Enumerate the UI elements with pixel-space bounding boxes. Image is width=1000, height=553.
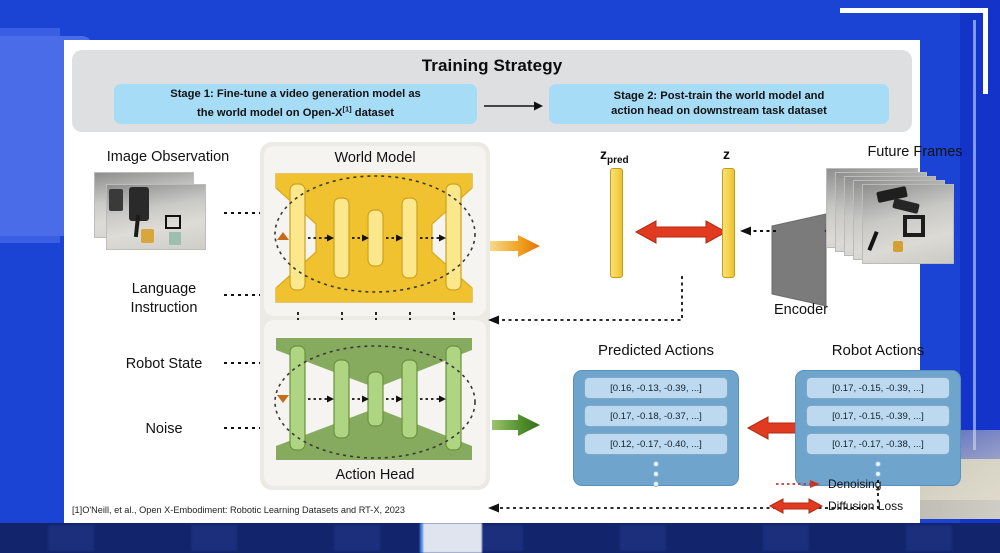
predicted-action-row[interactable]: [0.17, -0.18, -0.37, ...] (584, 405, 728, 427)
slide-canvas: Training Strategy Stage 1: Fine-tune a v… (64, 40, 920, 525)
arrow-world-model-to-zpred-icon (490, 233, 540, 259)
stage-1-line-1: Stage 1: Fine-tune a video generation mo… (170, 88, 421, 100)
feedback-path-z-to-world-model (484, 276, 694, 328)
robot-action-row[interactable]: [0.17, -0.17, -0.38, ...] (806, 433, 950, 455)
stage-2-line-2: action head on downstream task dataset (611, 105, 827, 117)
z-pred-bar (610, 168, 623, 278)
video-strip-item[interactable] (143, 523, 286, 553)
robot-action-row[interactable]: [0.17, -0.15, -0.39, ...] (806, 377, 950, 399)
model-container: World Model (260, 142, 490, 490)
world-model-title: World Model (264, 150, 486, 166)
robot-actions-title: Robot Actions (778, 342, 978, 359)
action-head-hourglass-icon (272, 332, 478, 466)
predicted-actions-title: Predicted Actions (556, 342, 756, 359)
robot-actions-box[interactable]: [0.17, -0.15, -0.39, ...] [0.17, -0.15, … (795, 370, 961, 486)
encoder-label: Encoder (752, 302, 850, 318)
video-strip-active-item[interactable] (420, 523, 482, 553)
encoder-shape-icon (770, 212, 828, 308)
future-frames-title: Future Frames (830, 144, 1000, 160)
legend-denoising-label: Denoising (828, 477, 881, 491)
diffusion-loss-legend-arrow-icon (770, 497, 822, 515)
world-model-card[interactable]: World Model (264, 146, 486, 316)
diffusion-loss-arrow-latent-icon (636, 218, 726, 246)
z-bar (722, 168, 735, 278)
stage-flow-arrow-icon (484, 100, 544, 112)
z-pred-label: zpred (600, 146, 629, 166)
stage-2-line-1: Stage 2: Post-train the world model and (614, 90, 825, 102)
footnote-citation: [1]O'Neill, et al., Open X-Embodiment: R… (72, 505, 405, 515)
video-strip-item[interactable] (0, 523, 143, 553)
stage-2-box[interactable]: Stage 2: Post-train the world model and … (549, 84, 889, 124)
video-strip-item[interactable] (857, 523, 1000, 553)
page-title: Training Strategy (72, 56, 912, 76)
video-strip-item[interactable] (714, 523, 857, 553)
z-label: z (723, 146, 730, 162)
stage-1-line-2: the world model on Open-X[1] dataset (197, 107, 394, 119)
image-observation-thumbnail (94, 172, 214, 254)
label-language-instruction: Language Instruction (84, 280, 244, 318)
legend-diffusion-loss: Diffusion Loss (770, 497, 903, 515)
predicted-action-row[interactable]: [0.16, -0.13, -0.39, ...] (584, 377, 728, 399)
video-thumbnail-strip[interactable] (0, 523, 1000, 553)
video-strip-item[interactable] (286, 523, 429, 553)
action-head-card[interactable]: Action Head (264, 320, 486, 486)
arrow-action-head-to-predicted-actions-icon (492, 413, 540, 437)
predicted-actions-box[interactable]: [0.16, -0.13, -0.39, ...] [0.17, -0.18, … (573, 370, 739, 486)
predicted-action-row[interactable]: [0.12, -0.17, -0.40, ...] (584, 433, 728, 455)
header-panel: Training Strategy Stage 1: Fine-tune a v… (72, 50, 912, 132)
legend-diffusion-loss-label: Diffusion Loss (828, 499, 903, 513)
label-image-observation: Image Observation (68, 148, 268, 167)
label-robot-state: Robot State (84, 355, 244, 374)
robot-action-row[interactable]: [0.17, -0.15, -0.39, ...] (806, 405, 950, 427)
arrow-encoder-to-z (740, 226, 776, 236)
world-model-hourglass-icon (272, 168, 478, 308)
future-frames-thumbnails (826, 168, 976, 278)
denoising-arrow-icon (776, 479, 822, 489)
label-noise: Noise (84, 420, 244, 439)
stage-1-box[interactable]: Stage 1: Fine-tune a video generation mo… (114, 84, 477, 124)
legend-denoising: Denoising (776, 477, 881, 491)
video-strip-item[interactable] (571, 523, 714, 553)
action-head-title: Action Head (264, 467, 486, 483)
